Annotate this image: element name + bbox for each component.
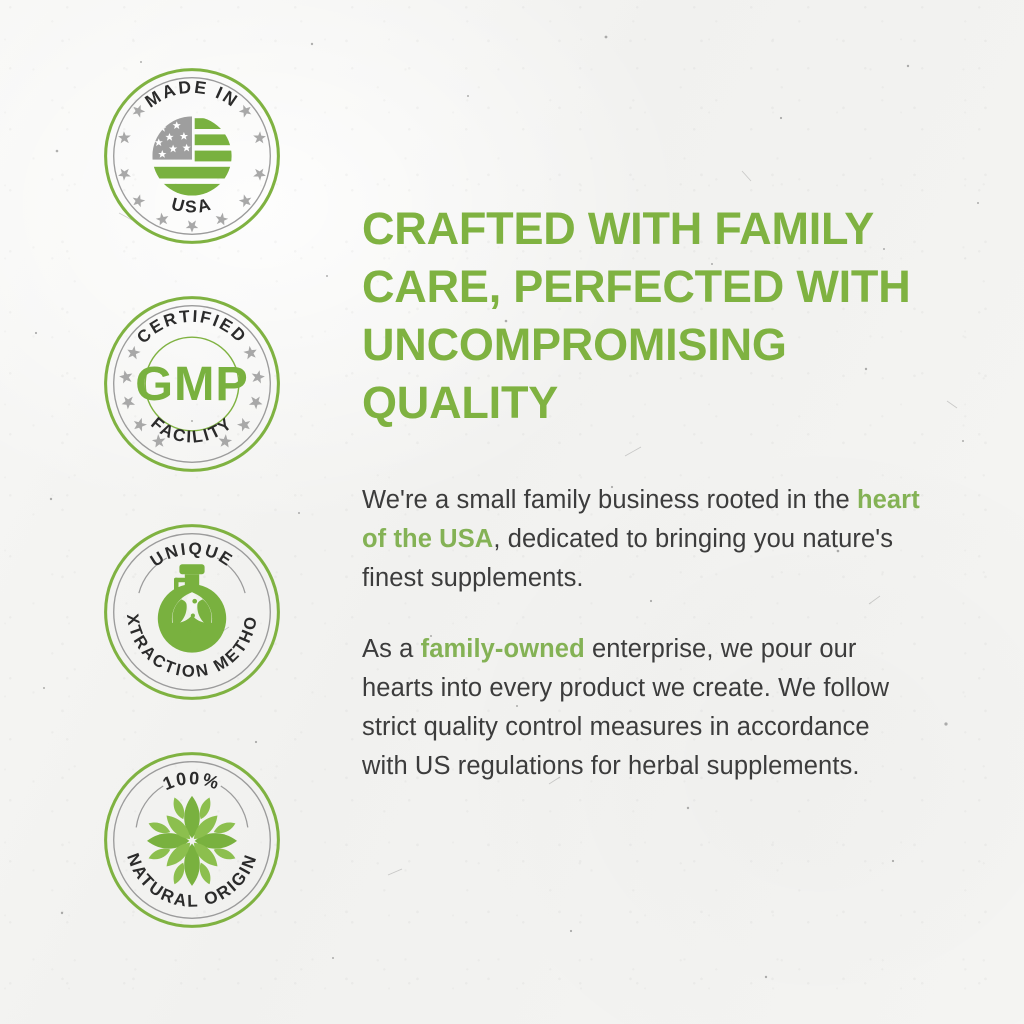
badge-made-in-usa: MADE IN USA <box>102 66 282 246</box>
badge-gmp-certified-facility: CERTIFIED FACILITY GM <box>102 294 282 474</box>
badge-natural-origin: 100% NATURAL ORIGIN <box>102 750 282 930</box>
page-title: Crafted with family care, perfected with… <box>362 200 917 432</box>
usa-flag-circle-icon <box>150 116 236 195</box>
badge-top-label: 100% <box>160 768 223 794</box>
body-paragraph-1: We're a small family business rooted in … <box>362 481 922 597</box>
badge-top-label: CERTIFIED <box>133 307 251 348</box>
badge-bottom-label: USA <box>169 193 214 216</box>
badge-unique-extraction-method: UNIQUE EXTRACTION METHOD <box>102 522 282 702</box>
paragraph-2-highlight: family-owned <box>421 635 585 663</box>
gmp-text-icon: GMP <box>135 357 248 411</box>
paragraph-2-before: As a <box>362 635 421 663</box>
leaf-rosette-icon <box>147 796 237 886</box>
paragraph-1-before: We're a small family business rooted in … <box>362 486 857 514</box>
certification-badge-list: MADE IN USA <box>96 66 288 930</box>
badge-top-label: MADE IN <box>141 77 242 112</box>
body-paragraph-2: As a family-owned enterprise, we pour ou… <box>362 630 922 785</box>
text-column: Crafted with family care, perfected with… <box>362 200 922 785</box>
promo-panel: MADE IN USA <box>0 0 1024 1024</box>
